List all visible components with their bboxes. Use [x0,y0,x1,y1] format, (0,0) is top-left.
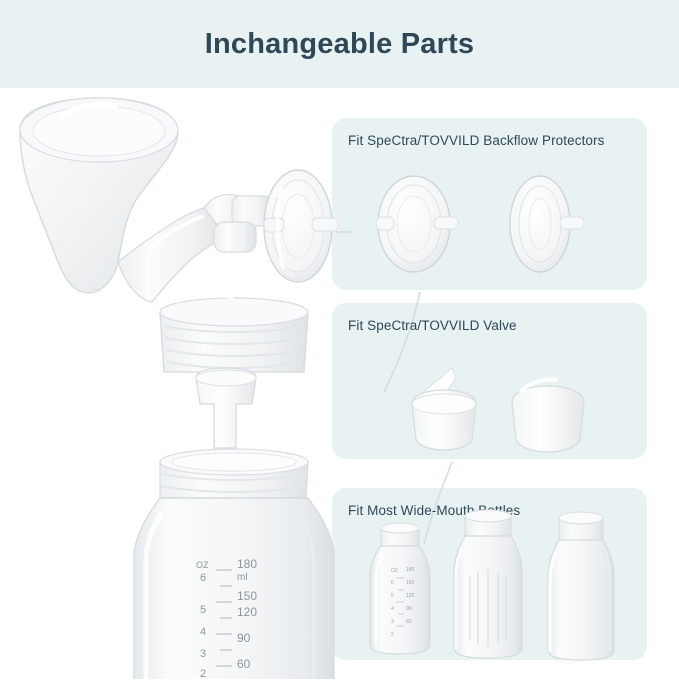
bottle-unit-oz: OZ [196,560,209,570]
mini-bottle-tick-90: 90 [406,606,412,612]
mini-bottle-tick-5: 5 [391,593,394,599]
mini-bottle-tick-3: 3 [391,619,394,625]
silicone-flange [20,98,178,293]
bottle-tick-60: 60 [237,657,250,671]
callout-valve-label: Fit SpeCtra/TOVVILD Valve [348,317,638,335]
mini-bottle-tick-4: 4 [391,606,394,612]
collection-bottle [134,449,334,679]
bottle-tick-150: 150 [237,589,257,603]
bottle-tick-5: 5 [200,604,206,616]
threaded-connector [160,296,308,372]
mini-bottle-tick-60: 60 [406,619,412,625]
poster-canvas: Inchangeable Parts [0,0,679,679]
bottle-tick-2: 2 [200,668,206,680]
bottle-tick-180: 180 [237,557,257,571]
backflow-protector [264,170,338,282]
connector-elbow [204,195,290,253]
bottle-unit-ml: ml [237,572,248,583]
bottle-tick-4: 4 [200,626,206,638]
callout-backflow-label: Fit SpeCtra/TOVVILD Backflow Protectors [348,132,638,150]
mini-bottle-tick-150: 150 [406,580,414,586]
bottle-tick-6: 6 [200,572,206,584]
mini-bottle-tick-120: 120 [406,593,414,599]
bottle-tick-120: 120 [237,605,257,619]
mini-bottle-tick-2: 2 [391,632,394,638]
page-title: Inchangeable Parts [0,28,679,61]
mini-bottle-tick-6: 6 [391,580,394,586]
valve [196,368,256,448]
callout-bottles-label: Fit Most Wide-Mouth Bottles [348,502,638,520]
mini-bottle-tick-180: 180 [406,567,414,573]
mini-bottle-unit-oz: OZ [391,568,398,574]
flange-tunnel [118,206,224,302]
bottle-tick-90: 90 [237,631,250,645]
bottle-tick-3: 3 [200,648,206,660]
